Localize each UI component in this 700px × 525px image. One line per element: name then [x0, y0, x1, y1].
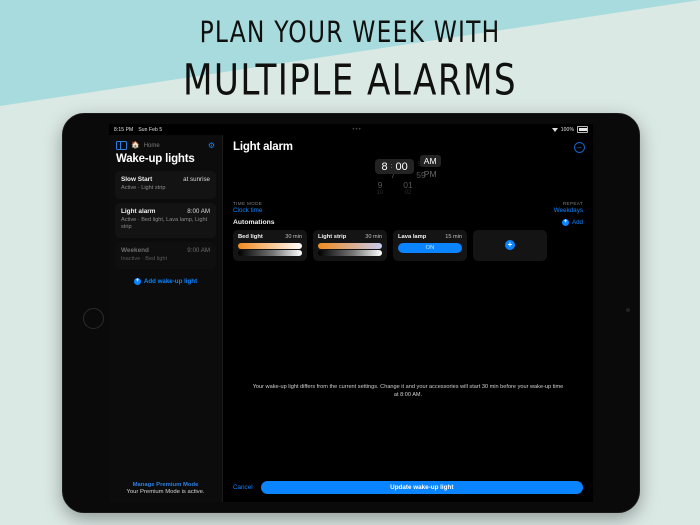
time-mode-label: TIME MODE — [233, 201, 262, 206]
alarm-subtitle: Active · Light strip — [121, 185, 210, 193]
alarm-subtitle: Active · Bed light, Lava lamp, Light str… — [121, 217, 210, 232]
alarm-subtitle: Inactive · Bed light — [121, 256, 210, 264]
battery-icon — [577, 126, 588, 133]
automation-cards: Bed light 30 min Light strip 30 min — [223, 226, 593, 262]
footer-actions: Cancel Update wake-up light — [223, 481, 593, 502]
tablet-device: 8:15 PM Sun Feb 5 ••• 100% 🏠 Home ⚙ Wake… — [62, 113, 640, 513]
color-gradient-bar[interactable] — [238, 243, 302, 249]
time-mode[interactable]: TIME MODE Clock time — [233, 201, 262, 214]
hour-option[interactable]: 9 — [378, 180, 383, 191]
brightness-gradient-bar[interactable] — [238, 250, 302, 256]
list-item[interactable]: Light alarm 8:00 AM Active · Bed light, … — [115, 203, 216, 238]
meridiem-pm[interactable]: PM — [424, 169, 437, 179]
add-wake-up-light-button[interactable]: + Add wake-up light — [109, 278, 222, 285]
page-title: Light alarm — [233, 141, 293, 153]
selected-minute: 00 — [396, 161, 408, 173]
main-panel: Light alarm ⚊ 6 7 58 59 — [223, 135, 593, 502]
list-item[interactable]: Weekend 9:00 AM Inactive · Bed light — [115, 242, 216, 270]
repeat-value[interactable]: Weekdays — [554, 207, 583, 214]
sidebar-title: Wake-up lights — [109, 152, 222, 171]
time-colon: : — [391, 163, 393, 170]
battery-percent: 100% — [561, 127, 574, 133]
cancel-button[interactable]: Cancel — [233, 484, 253, 491]
minute-wheel-below[interactable]: 01 02 — [393, 180, 423, 199]
alarm-name: Slow Start — [121, 176, 183, 183]
automation-duration: 15 min — [445, 234, 462, 240]
camera-dot — [626, 308, 630, 312]
meridiem-am[interactable]: AM — [420, 155, 441, 167]
meridiem-wheel[interactable]: AM PM — [420, 155, 441, 179]
wifi-icon — [552, 127, 558, 132]
alarm-time: 9:00 AM — [187, 247, 210, 254]
repeat-label: REPEAT — [554, 201, 583, 206]
automation-card[interactable]: Light strip 30 min — [313, 230, 387, 262]
manage-premium-mode-link[interactable]: Manage Premium Mode — [109, 482, 222, 488]
plus-circle-icon: + — [505, 240, 515, 250]
sidebar: 🏠 Home ⚙ Wake-up lights Slow Start at su… — [109, 135, 223, 502]
alarm-name: Light alarm — [121, 208, 187, 215]
minute-option[interactable]: 02 — [405, 190, 412, 198]
status-date: Sun Feb 5 — [138, 127, 162, 133]
home-button[interactable] — [83, 308, 104, 329]
hour-option[interactable]: 10 — [377, 190, 384, 198]
automations-title: Automations — [233, 219, 275, 226]
automation-name: Lava lamp — [398, 234, 445, 240]
app-body: 🏠 Home ⚙ Wake-up lights Slow Start at su… — [109, 135, 593, 502]
add-automation-card[interactable]: + — [473, 230, 547, 262]
minute-option[interactable]: 01 — [403, 180, 412, 191]
automation-duration: 30 min — [285, 234, 302, 240]
automation-name: Bed light — [238, 234, 285, 240]
main-header: Light alarm ⚊ — [223, 135, 593, 153]
add-wake-up-light-label: Add wake-up light — [144, 278, 197, 285]
description-text: Your wake-up light differs from the curr… — [251, 383, 565, 399]
alarm-time: 8:00 AM — [187, 208, 210, 215]
gear-icon[interactable]: ⚙ — [208, 142, 215, 150]
hour-wheel-below[interactable]: 9 10 — [367, 180, 393, 199]
sidebar-toolbar: 🏠 Home ⚙ — [109, 135, 222, 152]
close-circle-icon[interactable]: ⚊ — [574, 142, 585, 153]
alarm-time: at sunrise — [183, 176, 210, 183]
home-icon[interactable]: 🏠 — [131, 142, 140, 149]
automations-header: Automations + Add — [223, 214, 593, 226]
list-item[interactable]: Slow Start at sunrise Active · Light str… — [115, 171, 216, 199]
add-automation-button[interactable]: + Add — [562, 219, 583, 226]
selected-time[interactable]: 8 : 00 — [375, 159, 413, 174]
promo-line-2: MULTIPLE ALARMS — [0, 55, 700, 104]
tablet-screen: 8:15 PM Sun Feb 5 ••• 100% 🏠 Home ⚙ Wake… — [109, 124, 593, 502]
automation-name: Light strip — [318, 234, 365, 240]
automation-card[interactable]: Bed light 30 min — [233, 230, 307, 262]
repeat[interactable]: REPEAT Weekdays — [554, 201, 583, 214]
promo-line-1: PLAN YOUR WEEK WITH — [0, 16, 700, 50]
brightness-gradient-bar[interactable] — [318, 250, 382, 256]
add-automation-label: Add — [572, 219, 583, 226]
time-mode-value[interactable]: Clock time — [233, 207, 262, 214]
promo-headline: PLAN YOUR WEEK WITH MULTIPLE ALARMS — [0, 0, 700, 102]
sidebar-toggle-icon[interactable] — [116, 141, 127, 150]
sidebar-footer: Manage Premium Mode Your Premium Mode is… — [109, 482, 222, 503]
status-bar: 8:15 PM Sun Feb 5 ••• 100% — [109, 124, 593, 135]
plus-circle-icon: + — [134, 278, 141, 285]
automation-card[interactable]: Lava lamp 15 min ON — [393, 230, 467, 262]
selected-hour: 8 — [381, 161, 387, 173]
plus-circle-icon: + — [562, 219, 569, 226]
automation-toggle-on[interactable]: ON — [398, 243, 462, 253]
automation-duration: 30 min — [365, 234, 382, 240]
status-center-dots: ••• — [162, 127, 551, 133]
status-time: 8:15 PM — [114, 127, 133, 133]
color-gradient-bar[interactable] — [318, 243, 382, 249]
alarm-name: Weekend — [121, 247, 187, 254]
update-wake-up-light-button[interactable]: Update wake-up light — [261, 481, 583, 494]
premium-status-text: Your Premium Mode is active. — [109, 489, 222, 495]
meta-row: TIME MODE Clock time REPEAT Weekdays — [223, 198, 593, 214]
home-label[interactable]: Home — [144, 143, 160, 149]
